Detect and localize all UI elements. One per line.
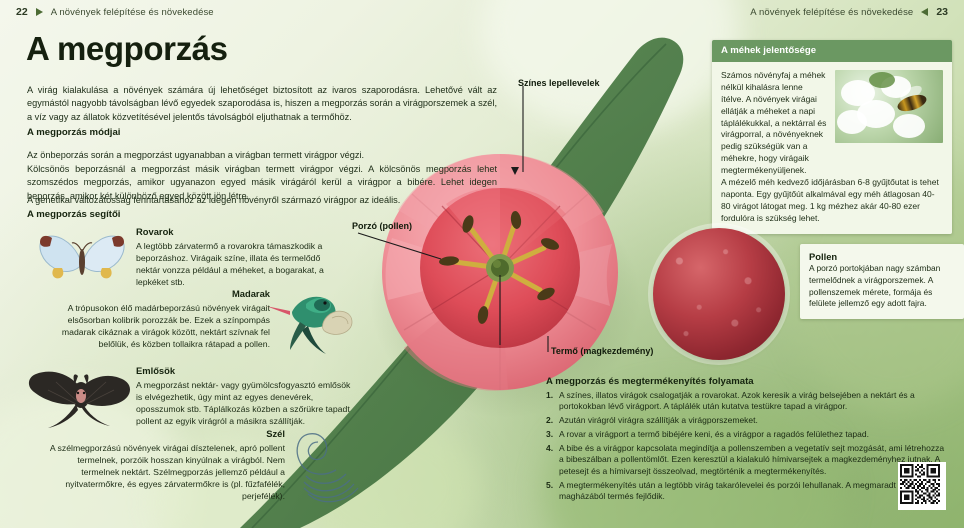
bat-icon xyxy=(26,362,136,434)
wind-swirl-icon xyxy=(296,424,374,506)
label-stamen: Porzó (pollen) xyxy=(352,221,412,231)
process-heading: A megporzás és megtermékenyítés folyamat… xyxy=(546,376,946,387)
chapter-title-right: A növények felépítése és növekedése xyxy=(750,7,913,18)
textbook-spread: 22 A növények felépítése és növekedése A… xyxy=(0,0,964,528)
chevron-right-icon xyxy=(36,8,43,16)
process-step: Azután virágról virágra szállítják a vir… xyxy=(546,415,946,426)
chevron-left-icon xyxy=(921,8,928,16)
bee-info-box: A méhek jelentősége Számos növényfaj a m… xyxy=(712,40,952,234)
process-step: A bibe és a virágpor kapcsolata megindít… xyxy=(546,443,946,477)
process-section: A megporzás és megtermékenyítés folyamat… xyxy=(546,376,946,505)
page-number-left: 22 xyxy=(16,6,28,18)
helper-insects-title: Rovarok xyxy=(136,226,326,239)
process-step: A rovar a virágport a termő bibéjére ken… xyxy=(546,429,946,440)
helper-wind-text: A szélmegporzású növények virágai díszte… xyxy=(50,443,285,501)
helpers-heading: A megporzás segítői xyxy=(27,209,120,220)
helper-birds: Madarak A trópusokon élő madárbeporzású … xyxy=(40,288,270,350)
modes-text-3: A genetikai változatosság fenntartásához… xyxy=(27,195,400,205)
process-step: A megtermékenyítés után a legtöbb virág … xyxy=(546,480,946,503)
page-header: 22 A növények felépítése és növekedése A… xyxy=(0,6,964,26)
helper-birds-title: Madarak xyxy=(40,288,270,301)
process-step: A színes, illatos virágok csalogatják a … xyxy=(546,390,946,413)
pistil xyxy=(486,254,514,282)
process-list: A színes, illatos virágok csalogatják a … xyxy=(546,390,946,502)
bee-box-title: A méhek jelentősége xyxy=(712,40,952,62)
bee-on-flower-photo xyxy=(835,70,943,143)
pollen-box-title: Pollen xyxy=(809,251,955,262)
pollen-grain-photo xyxy=(653,228,785,360)
stamens xyxy=(439,210,561,324)
helper-wind: Szél A szélmegporzású növények virágai d… xyxy=(45,428,285,502)
header-left: 22 A növények felépítése és növekedése xyxy=(16,6,214,18)
helper-mammals: Emlősök A megporzást nektár- vagy gyümöl… xyxy=(136,365,351,427)
bee-box-body: Számos növényfaj a méhek nélkül kihalásr… xyxy=(712,62,952,234)
page-title: A megporzás xyxy=(26,30,228,68)
pollen-box-text: A porzó portokjában nagy számban termelő… xyxy=(809,263,955,310)
page-number-right: 23 xyxy=(936,6,948,18)
modes-paragraph-3: A genetikai változatosság fenntartásához… xyxy=(27,194,497,207)
intro-paragraph: A virág kialakulása a növények számára ú… xyxy=(27,84,497,124)
header-right: A növények felépítése és növekedése 23 xyxy=(750,6,948,18)
label-tepals: Színes lepellevelek xyxy=(518,78,600,88)
modes-paragraph-1: Az önbeporzás során a megporzást ugyanab… xyxy=(27,149,497,162)
helper-birds-text: A trópusokon élő madárbeporzású növények… xyxy=(62,303,270,349)
bee-box-paragraph-1: Számos növényfaj a méhek nélkül kihalásr… xyxy=(721,70,827,177)
helper-wind-title: Szél xyxy=(45,428,285,441)
modes-heading: A megporzás módjai xyxy=(27,127,120,138)
modes-text-1: Az önbeporzás során a megporzást ugyanab… xyxy=(27,150,364,160)
chapter-title-left: A növények felépítése és növekedése xyxy=(51,7,214,18)
modes-heading-block: A megporzás módjai xyxy=(27,126,497,140)
helper-mammals-title: Emlősök xyxy=(136,365,351,378)
butterfly-icon xyxy=(34,230,130,292)
helper-mammals-text: A megporzást nektár- vagy gyümölcsfogyas… xyxy=(136,380,350,426)
hummingbird-icon xyxy=(262,278,354,356)
qr-code-icon[interactable] xyxy=(898,462,946,510)
pollen-info-box: Pollen A porzó portokjában nagy számban … xyxy=(800,244,964,319)
bee-box-paragraph-2: A mézelő méh kedvező időjárásban 6-8 gyű… xyxy=(721,177,943,225)
label-pistil: Termő (magkezdemény) xyxy=(551,346,653,356)
